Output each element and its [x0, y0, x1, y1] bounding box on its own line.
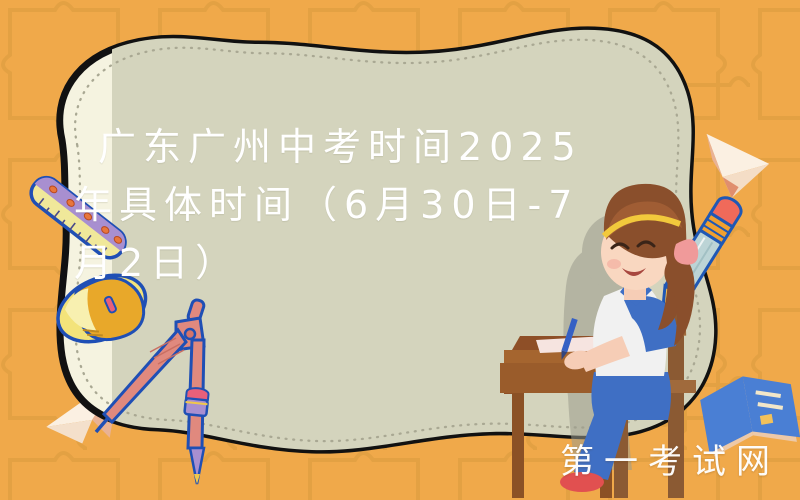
compass-layer — [0, 0, 800, 500]
banner-image: 广东广州中考时间2025 年具体时间（6月30日-7 月2日） 第一考试网 — [0, 0, 800, 500]
compass-icon — [96, 299, 209, 484]
